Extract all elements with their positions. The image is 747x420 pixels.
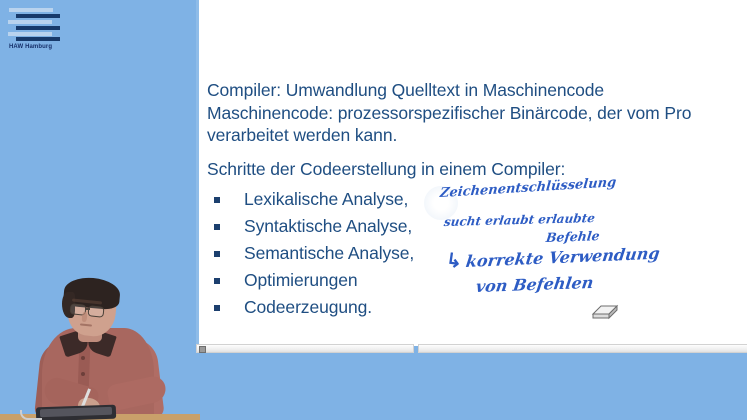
presenter-shirt-button [81, 372, 85, 376]
logo-wordmark: HAW Hamburg [9, 44, 52, 50]
slide-canvas[interactable]: Compiler: Umwandlung Quelltext in Maschi… [196, 0, 747, 346]
screen-recording-frame: HAW Hamburg Compiler: Umwandlung Quellte… [0, 0, 747, 420]
ink-annotation-von-befehlen: von Befehlen [475, 273, 595, 296]
logo-bar-5 [8, 32, 52, 36]
ink-annotation-befehle: Befehle [545, 228, 600, 245]
bullet-square-icon [214, 197, 220, 203]
presenter-video-overlay [0, 248, 200, 420]
logo-bar-1 [9, 8, 53, 12]
presenter-glasses-bridge [85, 308, 90, 310]
list-item-label: Syntaktische Analyse, [244, 216, 412, 237]
bullet-square-icon [214, 305, 220, 311]
logo-bar-4 [16, 26, 60, 30]
taskbar-left-panel[interactable] [196, 344, 414, 353]
slide-line-compiler: Compiler: Umwandlung Quelltext in Maschi… [207, 80, 604, 101]
presenter-glasses-right-lens [87, 305, 104, 318]
logo-bar-6 [16, 37, 60, 41]
haw-hamburg-logo: HAW Hamburg [6, 8, 68, 52]
presenter-shirt-button [81, 356, 85, 360]
presenter-tablet-cable [20, 410, 42, 420]
bullet-square-icon [214, 224, 220, 230]
eraser-cursor-icon[interactable] [591, 302, 621, 320]
list-item: Semantische Analyse, [214, 240, 414, 267]
list-item-label: Semantische Analyse, [244, 243, 414, 264]
ink-arrow-icon: ↳ [444, 249, 463, 274]
list-item-label: Lexikalische Analyse, [244, 189, 408, 210]
slide-line-maschinencode: Maschinencode: prozessorspezifischer Bin… [207, 103, 747, 124]
ink-highlight-blob [424, 186, 458, 220]
ink-annotation-korrekte-verwendung: korrekte Verwendung [465, 243, 661, 271]
bullet-square-icon [214, 278, 220, 284]
logo-bars [6, 8, 64, 41]
list-item-label: Codeerzeugung. [244, 297, 372, 318]
slide-line-schritte: Schritte der Codeerstellung in einem Com… [207, 159, 565, 180]
taskbar-resize-handle[interactable] [199, 346, 206, 353]
slide-bullet-list: Lexikalische Analyse, Syntaktische Analy… [214, 186, 414, 321]
logo-bar-2 [16, 14, 60, 18]
logo-bar-3 [8, 20, 52, 24]
bullet-square-icon [214, 251, 220, 257]
list-item: Codeerzeugung. [214, 294, 414, 321]
list-item: Lexikalische Analyse, [214, 186, 414, 213]
application-taskbar [196, 344, 747, 354]
list-item: Optimierungen [214, 267, 414, 294]
ink-annotation-sucht-erlaubte: sucht erlaubt erlaubte [443, 211, 596, 229]
list-item: Syntaktische Analyse, [214, 213, 414, 240]
list-item-label: Optimierungen [244, 270, 357, 291]
slide-line-maschinencode-continued: verarbeitet werden kann. [207, 125, 397, 146]
taskbar-right-panel[interactable] [418, 344, 747, 353]
